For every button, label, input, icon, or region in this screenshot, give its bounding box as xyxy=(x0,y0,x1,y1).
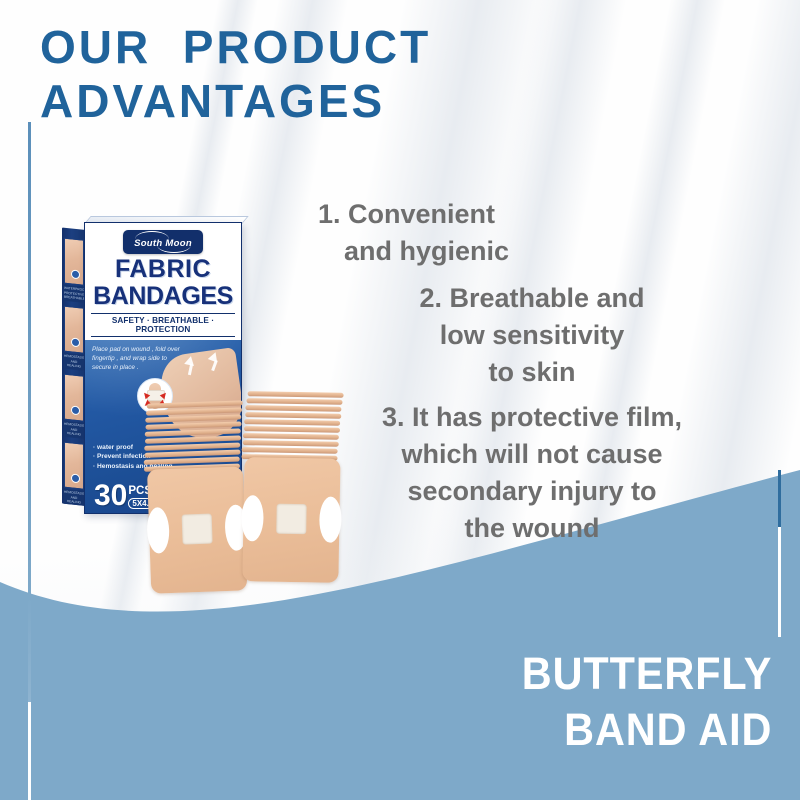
brand-tagline-line-2: BAND AID xyxy=(521,702,772,758)
advantage-3-line-3: secondary injury to xyxy=(318,473,746,510)
bandage-waist-notch xyxy=(319,496,342,542)
page-title: OUR PRODUCT ADVANTAGES xyxy=(40,20,680,128)
advantage-1-line-2: and hygienic xyxy=(318,233,746,270)
advantage-2-line-1: 2. Breathable and xyxy=(318,280,746,317)
advantage-3-line-2: which will not cause xyxy=(318,436,746,473)
page-title-line-1: OUR PRODUCT xyxy=(40,20,680,74)
bandage-waist-notch xyxy=(146,507,170,554)
stack-edge xyxy=(243,440,339,447)
side-thumbnail-3 xyxy=(64,374,84,422)
logo-plate: South Moon xyxy=(123,230,203,254)
bandage-top xyxy=(242,457,340,583)
advantage-item-2: 2. Breathable and low sensitivity to ski… xyxy=(318,280,746,391)
stack-edge xyxy=(243,433,339,440)
bandage-waist-notch xyxy=(241,495,264,541)
stack-edge xyxy=(245,405,341,412)
side-caption-2: HEMOSTASIS AND HEALING xyxy=(64,353,84,371)
logo-swoosh-icon xyxy=(135,231,169,239)
quantity-number: 30 xyxy=(94,483,127,509)
thumbnail-dot-icon xyxy=(71,405,80,415)
advertisement-canvas: OUR PRODUCT ADVANTAGES 1. Convenient and… xyxy=(0,0,800,800)
thumbnail-dot-icon xyxy=(71,473,80,483)
advantage-3-line-1: 3. It has protective film, xyxy=(318,399,746,436)
advantage-item-1: 1. Convenient and hygienic xyxy=(318,196,746,270)
brand-logo: South Moon xyxy=(85,223,241,256)
side-thumbnail-1 xyxy=(64,238,84,286)
package-subtitle: SAFETY · BREATHABLE · PROTECTION xyxy=(91,313,235,337)
right-accent-line-white xyxy=(778,527,781,637)
bandage-pad xyxy=(182,514,213,545)
brand-tagline-line-1: BUTTERFLY xyxy=(521,646,772,702)
package-instructions: Place pad on wound , fold over fingertip… xyxy=(92,345,184,372)
stack-edge xyxy=(245,412,341,419)
bandage-pad xyxy=(276,504,307,535)
side-thumbnail-2 xyxy=(64,306,84,354)
thumbnail-dot-icon xyxy=(71,269,80,279)
logo-swoosh-icon xyxy=(157,245,191,253)
bandage-top xyxy=(147,466,247,593)
thumbnail-dot-icon xyxy=(71,337,80,347)
side-caption-4: HEMOSTASIS AND HEALING xyxy=(64,489,84,506)
side-thumbnail-4 xyxy=(64,442,84,490)
stack-edge xyxy=(246,398,342,405)
package-side-panel: WATERPROOF PROTECTIVE BREATHABLE HEMOSTA… xyxy=(62,227,86,506)
advantage-2-line-3: to skin xyxy=(318,354,746,391)
left-accent-line-white xyxy=(28,702,31,800)
advantage-item-3: 3. It has protective film, which will no… xyxy=(318,399,746,547)
bandage-stack-right xyxy=(242,391,345,583)
side-caption-1: WATERPROOF PROTECTIVE BREATHABLE xyxy=(64,285,84,303)
stack-edge xyxy=(248,391,344,398)
package-title-line-1: FABRIC xyxy=(85,257,241,282)
advantage-3-line-4: the wound xyxy=(318,510,746,547)
stack-edge xyxy=(244,426,340,433)
bandage-stack-left xyxy=(145,400,252,593)
left-accent-line xyxy=(28,122,31,800)
stack-edge xyxy=(244,419,340,426)
advantage-2-line-2: low sensitivity xyxy=(318,317,746,354)
page-title-line-2: ADVANTAGES xyxy=(40,74,680,128)
advantage-1-line-1: 1. Convenient xyxy=(318,196,746,233)
stack-edge xyxy=(242,447,338,454)
side-caption-3: HEMOSTASIS AND HEALING xyxy=(64,421,84,439)
brand-tagline: BUTTERFLY BAND AID xyxy=(521,646,772,758)
bandage-stacks xyxy=(148,392,378,592)
breathable-arrow-icon xyxy=(184,355,196,366)
package-title-line-2: BANDAGES xyxy=(85,284,241,309)
advantages-list: 1. Convenient and hygienic 2. Breathable… xyxy=(318,196,746,553)
